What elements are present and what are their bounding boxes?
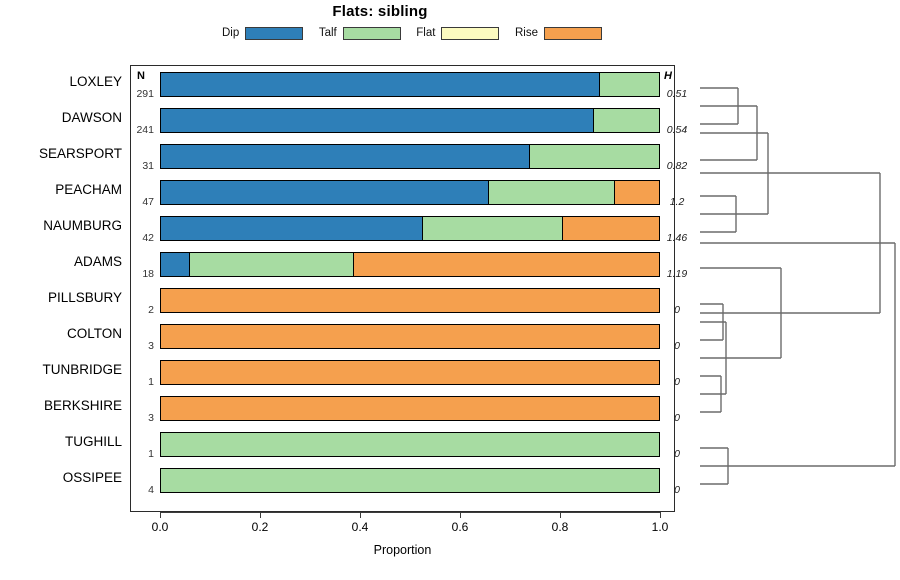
bar-segment-talf (599, 73, 659, 96)
x-tick-label: 1.0 (652, 520, 669, 534)
stacked-bar[interactable] (160, 252, 660, 277)
x-tick-label: 0.6 (452, 520, 469, 534)
bar-segment-rise (614, 181, 659, 204)
dendrogram (690, 60, 900, 515)
row-h-value: 1.2 (660, 196, 694, 208)
row-n-value: 3 (126, 412, 154, 424)
x-axis: 0.00.20.40.60.81.0 (130, 512, 675, 513)
row-label-tunbridge: TUNBRIDGE (0, 362, 122, 377)
page-title: Flats: sibling (0, 3, 760, 20)
x-axis-label: Proportion (130, 543, 675, 557)
row-n-value: 31 (126, 160, 154, 172)
legend-item-flat[interactable]: Flat (416, 27, 499, 40)
bar-segment-talf (593, 109, 659, 132)
stacked-bar[interactable] (160, 432, 660, 457)
row-h-value: 0 (660, 484, 694, 496)
legend-swatch-flat (441, 27, 499, 40)
bar-segment-dip (161, 109, 593, 132)
bar-segment-dip (161, 217, 422, 240)
legend-item-talf[interactable]: Talf (319, 27, 401, 40)
legend-label-dip: Dip (222, 27, 239, 39)
row-h-value: 1.19 (660, 268, 694, 280)
x-tick-label: 0.8 (552, 520, 569, 534)
legend-item-rise[interactable]: Rise (515, 27, 602, 40)
x-tick-label: 0.4 (352, 520, 369, 534)
row-n-value: 18 (126, 268, 154, 280)
stacked-bar[interactable] (160, 180, 660, 205)
stacked-bar[interactable] (160, 72, 660, 97)
row-h-value: 0 (660, 412, 694, 424)
stacked-bar[interactable] (160, 324, 660, 349)
row-h-value: 0.54 (660, 124, 694, 136)
row-label-ossipee: OSSIPEE (0, 470, 122, 485)
bar-segment-talf (422, 217, 562, 240)
row-n-value: 241 (126, 124, 154, 136)
row-h-value: 0 (660, 340, 694, 352)
stacked-bar[interactable] (160, 360, 660, 385)
legend-label-talf: Talf (319, 27, 337, 39)
row-label-naumburg: NAUMBURG (0, 218, 122, 233)
x-tick (560, 512, 561, 518)
bar-segment-talf (189, 253, 353, 276)
row-h-value: 0.51 (660, 88, 694, 100)
bar-segment-rise (562, 217, 659, 240)
stacked-bar[interactable] (160, 144, 660, 169)
legend: Dip Talf Flat Rise (222, 24, 602, 42)
row-h-value: 1.46 (660, 232, 694, 244)
row-n-value: 1 (126, 448, 154, 460)
bar-segment-talf (488, 181, 614, 204)
x-tick (460, 512, 461, 518)
x-axis-line (160, 512, 661, 513)
legend-swatch-talf (343, 27, 401, 40)
row-label-colton: COLTON (0, 326, 122, 341)
row-label-peacham: PEACHAM (0, 182, 122, 197)
row-label-dawson: DAWSON (0, 110, 122, 125)
x-tick (260, 512, 261, 518)
legend-label-rise: Rise (515, 27, 538, 39)
legend-swatch-dip (245, 27, 303, 40)
row-h-value: 0 (660, 304, 694, 316)
row-h-value: 0 (660, 376, 694, 388)
x-tick (660, 512, 661, 518)
stacked-bar[interactable] (160, 288, 660, 313)
x-tick (360, 512, 361, 518)
row-label-adams: ADAMS (0, 254, 122, 269)
bar-segment-rise (353, 253, 659, 276)
row-n-value: 291 (126, 88, 154, 100)
bar-segment-talf (161, 469, 659, 492)
x-tick-label: 0.2 (252, 520, 269, 534)
bar-segment-talf (529, 145, 659, 168)
stacked-bar[interactable] (160, 396, 660, 421)
row-n-value: 2 (126, 304, 154, 316)
x-tick-label: 0.0 (152, 520, 169, 534)
row-label-loxley: LOXLEY (0, 74, 122, 89)
legend-item-dip[interactable]: Dip (222, 27, 303, 40)
legend-swatch-rise (544, 27, 602, 40)
bar-segment-dip (161, 73, 599, 96)
bar-segment-dip (161, 253, 189, 276)
bar-segment-talf (161, 433, 659, 456)
stacked-bar[interactable] (160, 468, 660, 493)
row-n-value: 4 (126, 484, 154, 496)
row-n-value: 1 (126, 376, 154, 388)
dendrogram-svg (690, 60, 900, 515)
row-label-berkshire: BERKSHIRE (0, 398, 122, 413)
bar-segment-rise (161, 361, 659, 384)
row-label-pillsbury: PILLSBURY (0, 290, 122, 305)
row-n-value: 3 (126, 340, 154, 352)
row-n-value: 42 (126, 232, 154, 244)
row-h-value: 0 (660, 448, 694, 460)
x-tick (160, 512, 161, 518)
stacked-bar[interactable] (160, 216, 660, 241)
row-label-tughill: TUGHILL (0, 434, 122, 449)
bar-segment-rise (161, 325, 659, 348)
row-n-value: 47 (126, 196, 154, 208)
row-label-searsport: SEARSPORT (0, 146, 122, 161)
bar-segment-dip (161, 145, 529, 168)
bar-segment-rise (161, 397, 659, 420)
bar-segment-dip (161, 181, 488, 204)
legend-label-flat: Flat (416, 27, 435, 39)
stacked-bar[interactable] (160, 108, 660, 133)
bar-segment-rise (161, 289, 659, 312)
chart-canvas: Flats: sibling Dip Talf Flat Rise N H LO… (0, 0, 900, 580)
row-h-value: 0.82 (660, 160, 694, 172)
